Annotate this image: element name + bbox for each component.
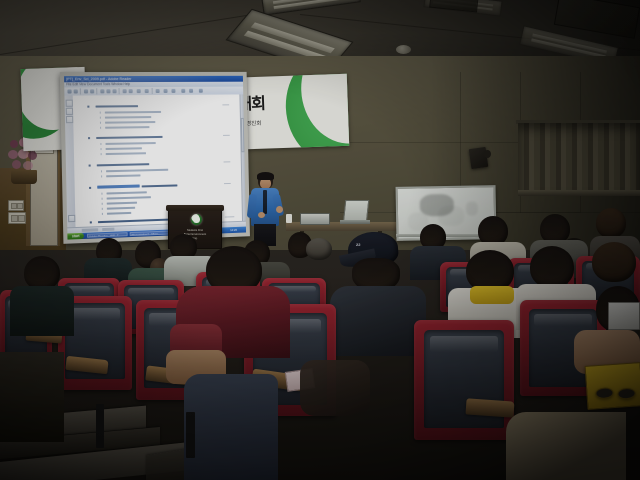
audience-head <box>24 256 60 290</box>
audience-jacket <box>330 286 426 356</box>
start-button[interactable]: start <box>67 233 84 240</box>
drinking-cup <box>286 214 292 223</box>
seat-base-shadow <box>0 352 64 442</box>
audience-yellow-collar <box>470 286 514 304</box>
window-curtain <box>518 123 640 193</box>
system-tray-clock[interactable]: 14:26 <box>221 227 246 234</box>
seat-armrest <box>466 398 515 417</box>
wall-speaker-mount <box>484 150 491 158</box>
speaker-left-hand <box>258 212 265 218</box>
curtain-sill <box>518 190 640 196</box>
podium-top <box>166 205 224 211</box>
auditorium-seat[interactable] <box>414 320 514 440</box>
seat-leg <box>96 404 104 448</box>
speaker-hair <box>257 172 274 180</box>
yellow-product-box[interactable] <box>585 362 640 410</box>
speaker-necktie <box>263 190 267 214</box>
audience-trousers <box>506 412 626 480</box>
scrollbar-thumb[interactable] <box>241 118 245 152</box>
audience-bag <box>300 360 370 416</box>
taskbar-item[interactable]: Presentation1 - Micro... <box>130 231 170 237</box>
cap-logo-text: 22 <box>356 242 360 247</box>
white-handheld-device[interactable] <box>608 302 640 330</box>
audience-head <box>596 208 626 238</box>
wall-switch-plate[interactable] <box>8 200 24 211</box>
seat-leg <box>186 412 195 458</box>
audience-head <box>530 246 574 288</box>
audience-shoulders <box>10 286 74 336</box>
audience-head <box>592 242 636 282</box>
zoom-indicator <box>102 228 114 231</box>
foreground-audience-jeans <box>184 374 278 480</box>
taskbar-item[interactable]: Adobe Reader - [PT]_E... <box>87 232 128 238</box>
laptop-base[interactable] <box>340 220 370 224</box>
university-emblem-icon <box>191 214 202 225</box>
lecture-hall-photo: 2 일시 술대회 한국 기술경진회 [PT]_Env_Sci_2009.pdf … <box>0 0 640 480</box>
wall-outlet-plate[interactable] <box>8 212 26 224</box>
smoke-detector <box>396 45 411 54</box>
projector-unit <box>300 213 330 225</box>
speaker-right-hand <box>276 206 283 213</box>
podium-line-1: Students First <box>169 229 221 232</box>
audience-head-hat <box>306 238 332 260</box>
